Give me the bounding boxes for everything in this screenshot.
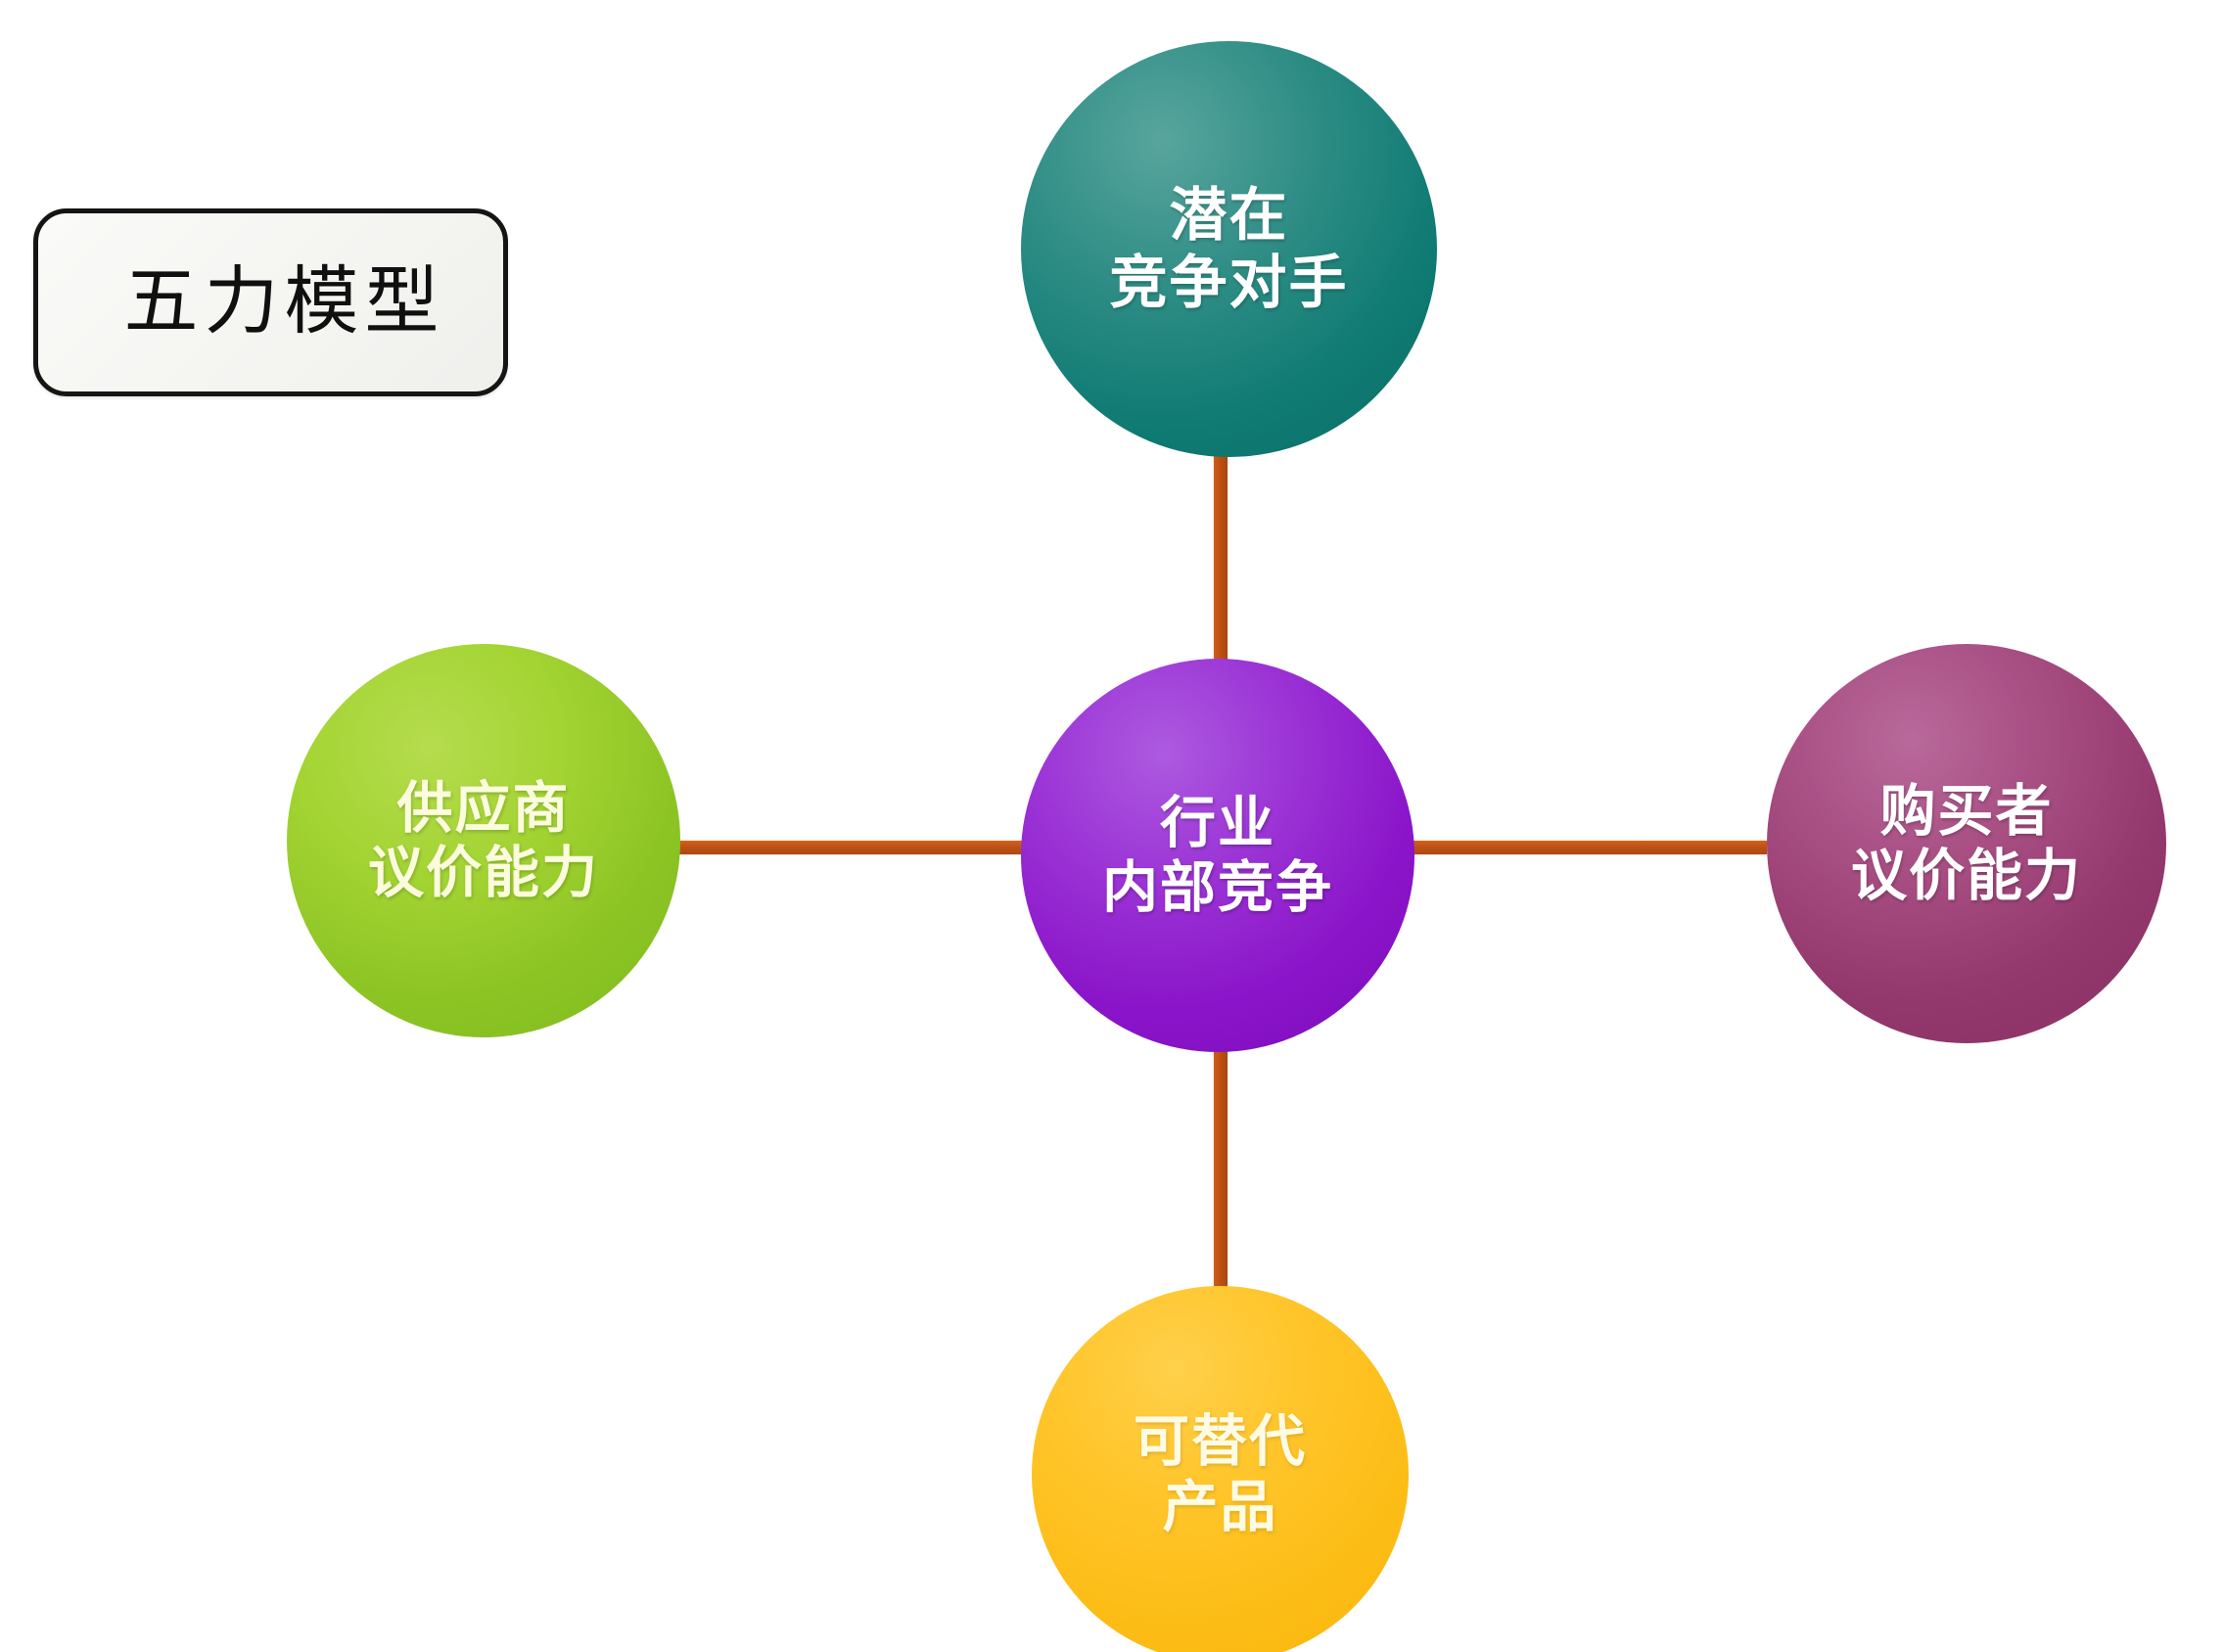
node-industry-internal-competition-line1: 行业 [1160,791,1275,855]
node-supplier-bargaining-power[interactable]: 供应商 议价能力 [287,644,680,1037]
node-buyer-bargaining-power-line2: 议价能力 [1851,844,2082,908]
connector-center-to-top [1214,445,1228,690]
node-substitute-products-line1: 可替代 [1134,1409,1307,1474]
node-supplier-bargaining-power-line1: 供应商 [397,776,571,841]
diagram-title-box: 五力模型 [33,208,508,396]
node-industry-internal-competition-line2: 内部竞争 [1102,855,1333,920]
node-buyer-bargaining-power[interactable]: 购买者 议价能力 [1767,644,2166,1043]
node-industry-internal-competition[interactable]: 行业 内部竞争 [1021,659,1414,1052]
node-substitute-products-line2: 产品 [1163,1475,1278,1539]
connector-center-to-bottom [1214,1035,1228,1292]
connector-center-to-right [1400,841,1767,854]
node-potential-competitors[interactable]: 潜在 竞争对手 [1021,41,1437,457]
node-potential-competitors-line1: 潜在 [1169,182,1288,249]
node-buyer-bargaining-power-line1: 购买者 [1880,779,2054,844]
diagram-canvas: 五力模型 潜在 竞争对手 供应商 议价能力 行业 内部竞争 购买者 议价能力 可… [0,0,2224,1652]
node-potential-competitors-line2: 竞争对手 [1109,250,1348,316]
node-supplier-bargaining-power-line2: 议价能力 [368,841,599,905]
node-substitute-products[interactable]: 可替代 产品 [1032,1286,1409,1652]
connector-center-to-left [675,841,1042,854]
diagram-title-label: 五力模型 [124,265,445,340]
